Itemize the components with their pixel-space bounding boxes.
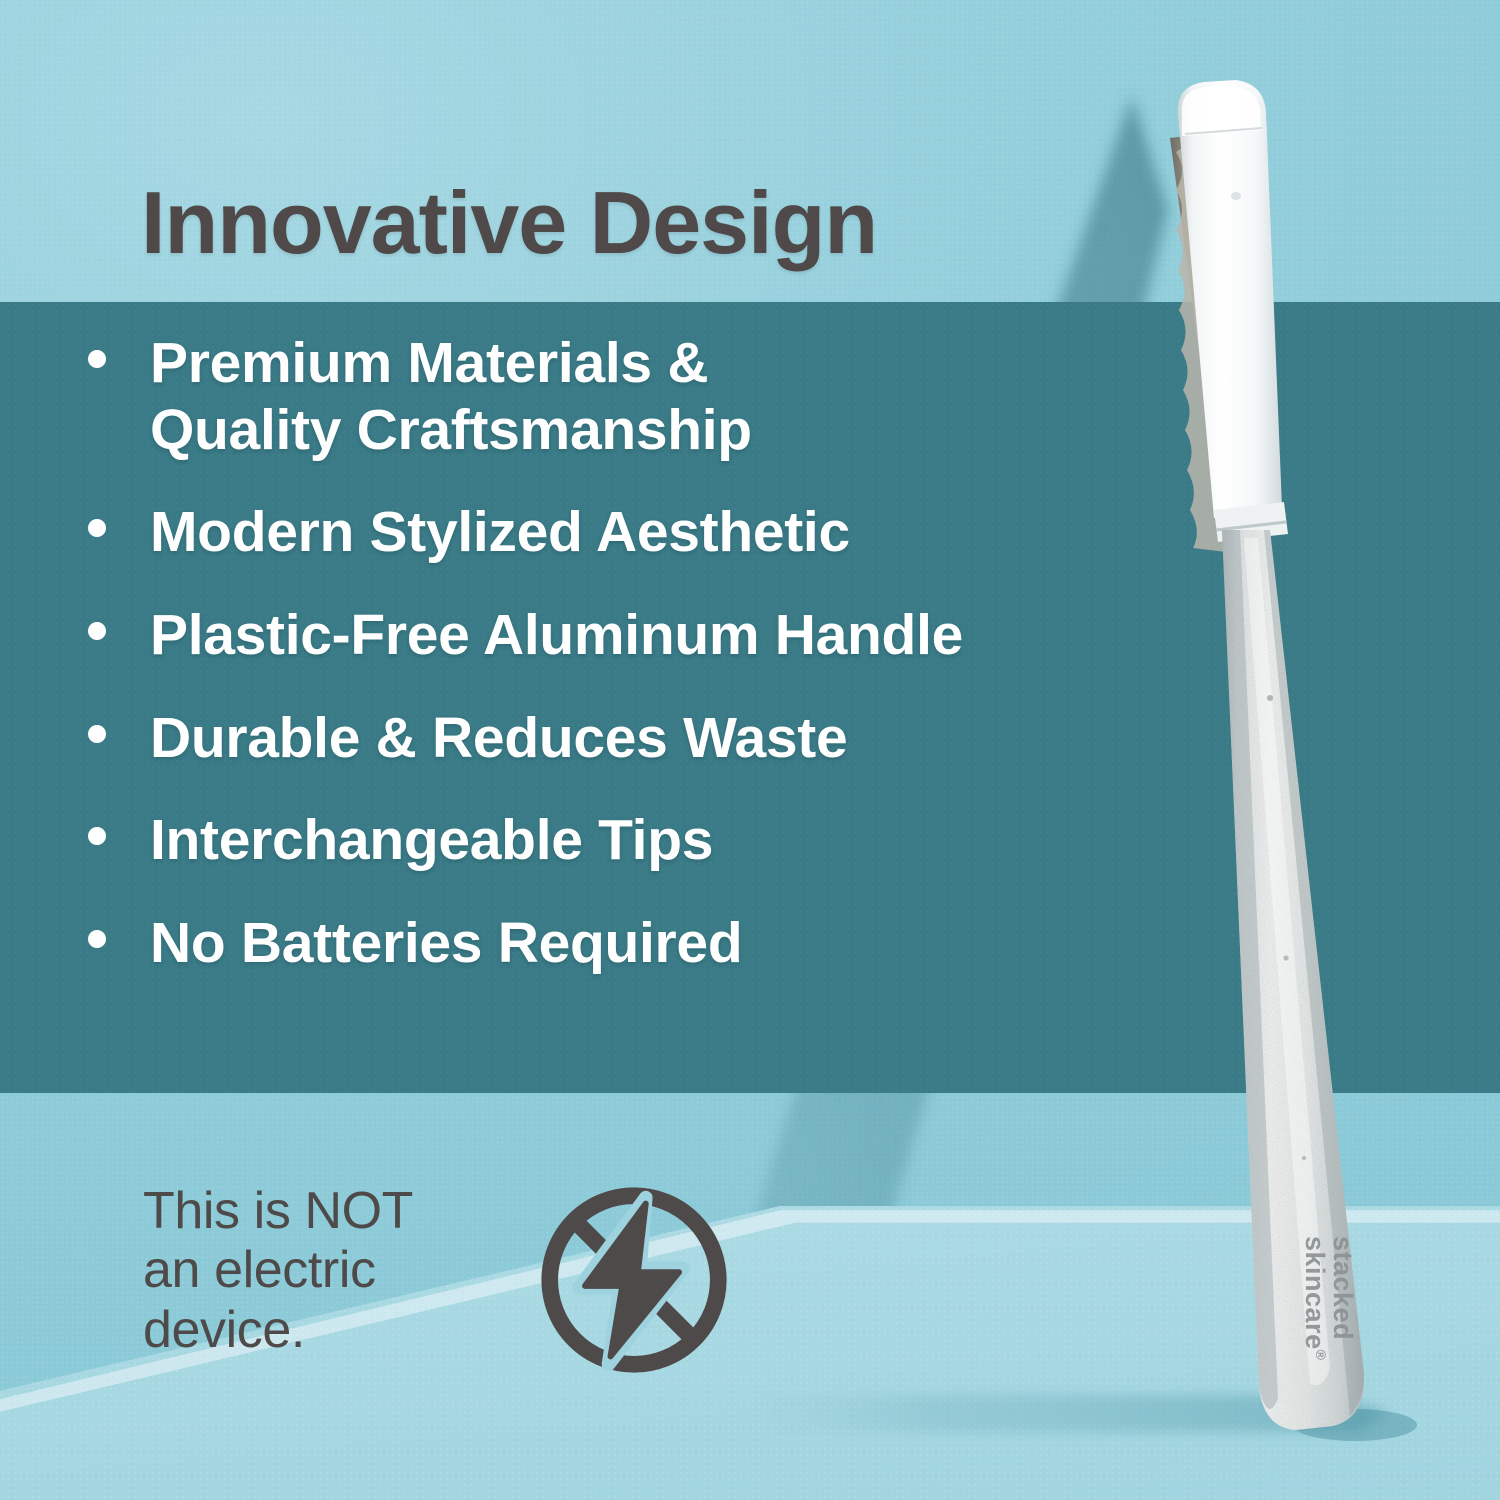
feature-list: Premium Materials &Quality Craftsmanship… [82, 330, 1202, 977]
brand-engraving: stacked skincare® [1301, 1236, 1356, 1406]
feature-label: Durable & Reduces Waste [150, 705, 847, 772]
list-item: Interchangeable Tips [82, 807, 1202, 874]
product-feature-card: stacked skincare® Innovative Design Prem… [0, 0, 1500, 1500]
bullet-dot-icon [88, 827, 106, 845]
brand-line-2: skincare [1300, 1236, 1330, 1350]
feature-label: Premium Materials &Quality Craftsmanship [150, 330, 752, 463]
note-line-1: This is NOT [143, 1182, 413, 1241]
brand-line-1: stacked [1328, 1236, 1356, 1406]
page-title: Innovative Design [141, 172, 877, 274]
no-electric-icon [536, 1182, 732, 1378]
list-item: Modern Stylized Aesthetic [82, 499, 1202, 566]
not-electric-note: This is NOT an electric device. [143, 1182, 413, 1360]
bullet-dot-icon [88, 519, 106, 537]
note-line-3: device. [143, 1301, 413, 1360]
bullet-dot-icon [88, 930, 106, 948]
list-item: Premium Materials &Quality Craftsmanship [82, 330, 1202, 463]
note-line-2: an electric [143, 1241, 413, 1300]
list-item: Durable & Reduces Waste [82, 705, 1202, 772]
feature-label: Plastic-Free Aluminum Handle [150, 602, 963, 669]
feature-label: Interchangeable Tips [150, 807, 713, 874]
feature-label: No Batteries Required [150, 910, 742, 977]
registered-mark: ® [1313, 1350, 1329, 1361]
list-item: Plastic-Free Aluminum Handle [82, 602, 1202, 669]
bullet-dot-icon [88, 350, 106, 368]
feature-label: Modern Stylized Aesthetic [150, 499, 850, 566]
list-item: No Batteries Required [82, 910, 1202, 977]
bullet-dot-icon [88, 622, 106, 640]
bullet-dot-icon [88, 725, 106, 743]
